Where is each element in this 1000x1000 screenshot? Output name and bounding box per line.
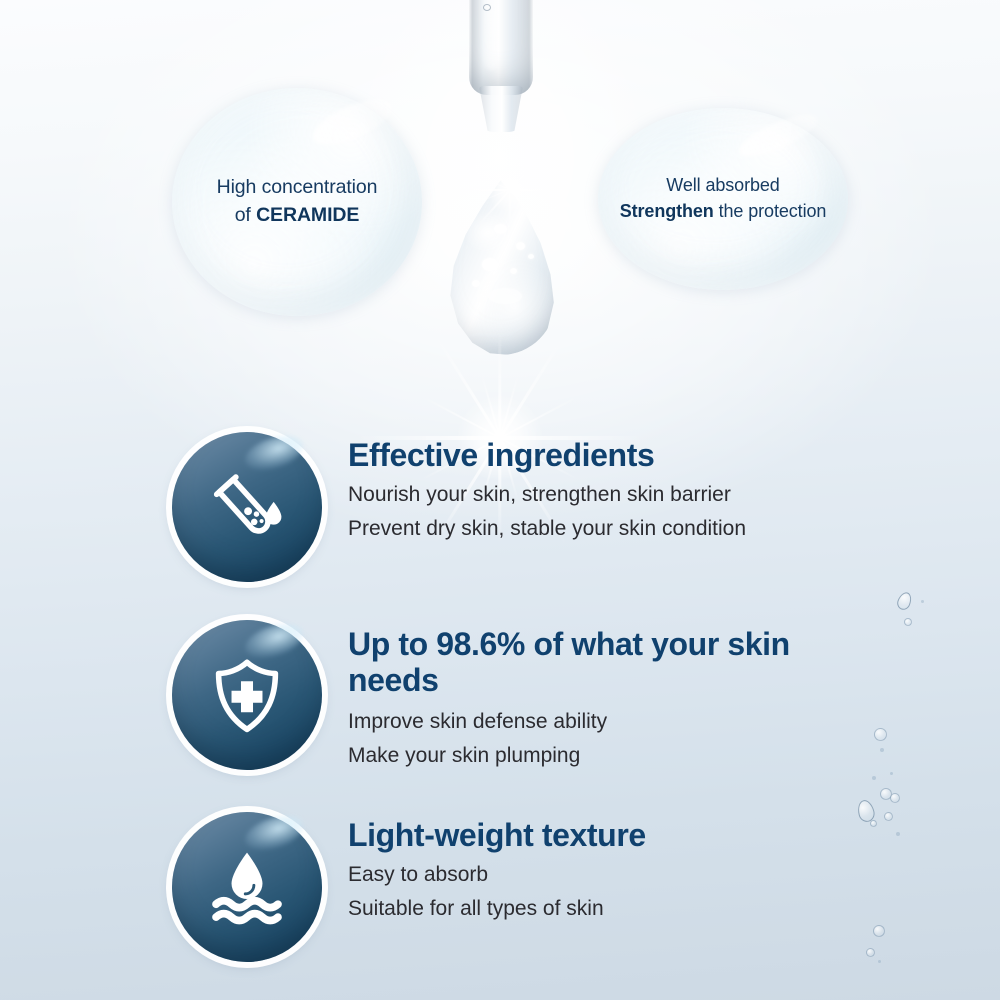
feature-3-lines: Easy to absorb Suitable for all types of… (348, 858, 646, 926)
droplet-sparkle-spot (516, 242, 525, 250)
droplet-sparkle-spot (482, 258, 498, 271)
water-drop-waves-icon (172, 812, 322, 962)
bubble-absorption: Well absorbed Strengthen the protection (598, 108, 848, 290)
droplet-sparkle-spot (472, 280, 480, 287)
feature-1-line-1: Nourish your skin, strengthen skin barri… (348, 478, 746, 512)
droplet-sparkle-spot (510, 268, 517, 274)
feature-light-weight-texture: Light-weight texture Easy to absorb Suit… (172, 812, 932, 962)
bubble-ceramide-text: High concentration of CERAMIDE (187, 174, 407, 229)
decorative-bubble (873, 925, 885, 937)
test-tube-icon (172, 432, 322, 582)
feature-effective-ingredients: Effective ingredients Nourish your skin,… (172, 432, 932, 582)
feature-3-title: Light-weight texture (348, 818, 646, 854)
decorative-bubble (895, 590, 914, 612)
feature-1-title: Effective ingredients (348, 438, 746, 474)
serum-dropper (455, 0, 547, 150)
decorative-bubble (874, 728, 887, 741)
decorative-bubble-dot (896, 832, 900, 836)
bubble-absorption-keyword: Strengthen (620, 201, 714, 221)
bubble-ceramide-line2: of CERAMIDE (187, 202, 407, 230)
bubble-ceramide: High concentration of CERAMIDE (172, 88, 422, 316)
decorative-bubble (890, 793, 900, 803)
bubble-absorption-line1: Well absorbed (598, 173, 848, 199)
feature-2-title: Up to 98.6% of what your skin needs (348, 626, 808, 699)
decorative-bubble-dot (890, 772, 893, 775)
bubble-ceramide-prefix: of (235, 204, 256, 226)
droplet-inner-lens (488, 288, 522, 304)
feature-2-line-2: Make your skin plumping (348, 739, 808, 773)
feature-3-text: Light-weight texture Easy to absorb Suit… (322, 812, 646, 926)
decorative-bubble-dot (921, 600, 924, 603)
bubble-ceramide-line1: High concentration (187, 174, 407, 202)
bubble-absorption-line2: Strengthen the protection (598, 199, 848, 225)
bubble-absorption-text: Well absorbed Strengthen the protection (598, 173, 848, 224)
droplet-sparkle-spot (528, 254, 534, 259)
serum-droplet (446, 180, 556, 355)
decorative-bubble (904, 618, 912, 626)
feature-1-line-2: Prevent dry skin, stable your skin condi… (348, 512, 746, 546)
bubble-absorption-suffix: the protection (714, 201, 827, 221)
decorative-bubble (866, 948, 875, 957)
shield-cross-icon (172, 620, 322, 770)
feature-skin-needs: Up to 98.6% of what your skin needs Impr… (172, 620, 932, 774)
decorative-bubble-dot (872, 776, 876, 780)
infographic-canvas: High concentration of CERAMIDE Well abso… (0, 0, 1000, 1000)
glass-air-bubble (483, 4, 491, 11)
feature-2-line-1: Improve skin defense ability (348, 705, 808, 739)
feature-3-line-1: Easy to absorb (348, 858, 646, 892)
decorative-bubble (870, 820, 877, 827)
feature-2-text: Up to 98.6% of what your skin needs Impr… (322, 620, 808, 774)
droplet-sparkle-spot (494, 224, 507, 234)
decorative-bubble-dot (878, 960, 881, 963)
feature-1-lines: Nourish your skin, strengthen skin barri… (348, 478, 746, 546)
decorative-bubble (884, 812, 893, 821)
feature-2-lines: Improve skin defense ability Make your s… (348, 705, 808, 774)
bubble-ceramide-keyword: CERAMIDE (256, 204, 359, 226)
decorative-bubble-dot (880, 748, 884, 752)
feature-3-line-2: Suitable for all types of skin (348, 892, 646, 926)
dropper-tip (479, 86, 523, 132)
dropper-glass-body (469, 0, 533, 95)
feature-1-text: Effective ingredients Nourish your skin,… (322, 432, 746, 546)
